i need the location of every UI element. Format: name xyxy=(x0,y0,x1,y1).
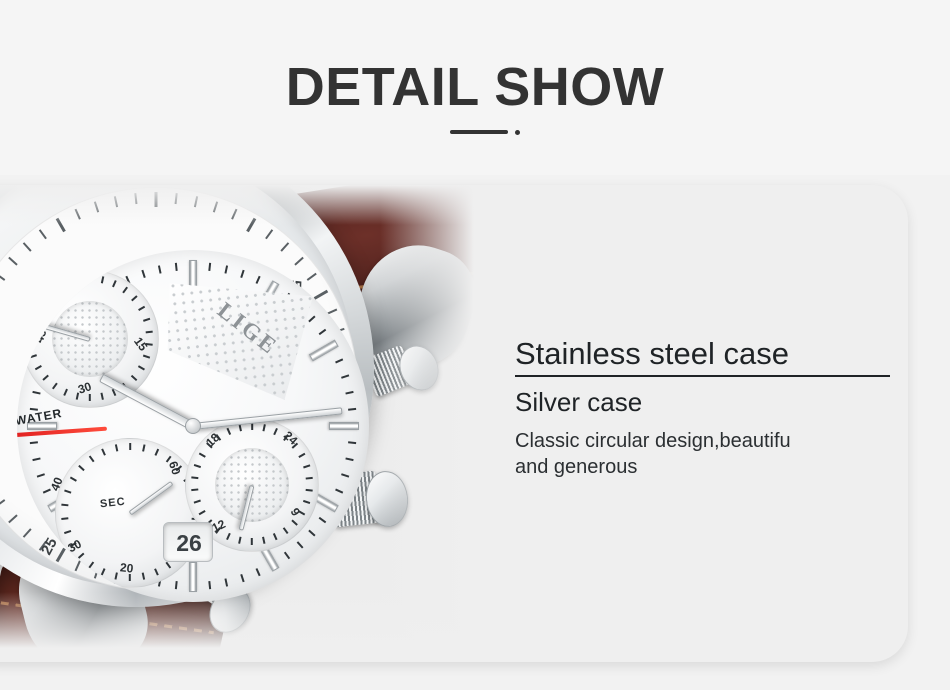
subdial-24h-numeral-9: 9 xyxy=(288,505,303,518)
detail-show-page: DETAIL SHOW xyxy=(0,0,950,690)
feature-heading: Stainless steel case xyxy=(515,335,908,373)
case-inner-ring: 50 25 LIGE xyxy=(0,185,354,587)
subdial-top-numeral-15: 15 xyxy=(131,334,150,353)
subdial-seconds-numeral-30: 30 xyxy=(65,537,83,556)
title-ornament xyxy=(0,126,950,140)
stainless-steel-case: 50 25 LIGE xyxy=(0,185,374,607)
hands-center-cap xyxy=(185,418,201,434)
feature-description: Classic circular design,beautifu and gen… xyxy=(515,428,908,480)
ornament-dot-icon xyxy=(515,130,520,135)
subdial-seconds-label: SEC xyxy=(99,496,126,511)
date-window: 26 xyxy=(163,522,213,562)
page-header: DETAIL SHOW xyxy=(0,0,950,175)
subdial-small-seconds: SEC 40 30 20 10 60 xyxy=(55,438,205,588)
hour-index xyxy=(329,422,359,430)
detail-card: 50 25 LIGE xyxy=(0,185,908,662)
watch-detail-photo: 50 25 LIGE xyxy=(0,185,500,662)
ornament-bar-icon xyxy=(450,130,508,134)
date-value: 26 xyxy=(164,523,214,563)
feature-heading-underline xyxy=(515,375,890,377)
watch-image-stage: 50 25 LIGE xyxy=(0,185,500,662)
watch-bezel: 50 25 LIGE xyxy=(0,187,358,591)
subdial-seconds-numeral-60: 60 xyxy=(166,459,183,476)
subdial-seconds-hand xyxy=(129,480,174,515)
hour-index xyxy=(189,562,197,592)
subdial-chrono-minutes: 45 30 15 xyxy=(21,270,159,408)
feature-info-block: Stainless steel case Silver case Classic… xyxy=(515,335,908,480)
watch-dial: LIGE 45 30 15 xyxy=(17,250,369,602)
feature-subheading: Silver case xyxy=(515,386,908,418)
page-title: DETAIL SHOW xyxy=(0,58,950,116)
subdial-seconds-numeral-20: 20 xyxy=(119,560,134,575)
